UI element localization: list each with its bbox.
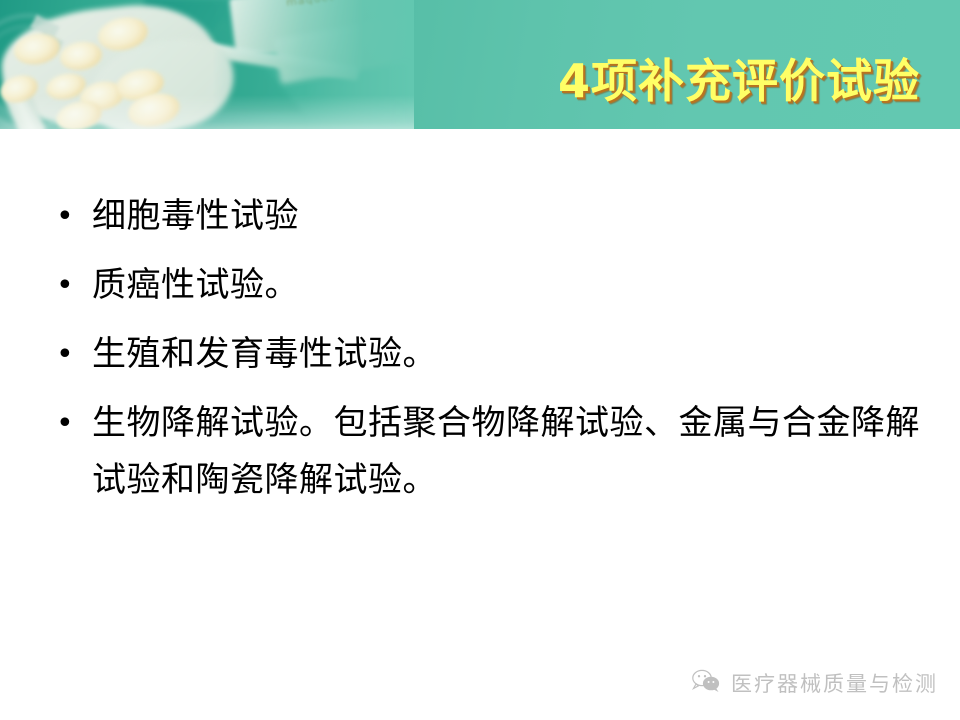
bullet-item: 生物降解试验。包括聚合物降解试验、金属与合金降解试验和陶瓷降解试验。: [48, 395, 928, 509]
bullet-list: 细胞毒性试验 质癌性试验。 生殖和发育毒性试验。 生物降解试验。包括聚合物降解试…: [48, 188, 928, 521]
bullet-item: 生殖和发育毒性试验。: [48, 326, 928, 383]
watermark: 医疗器械质量与检测: [691, 668, 938, 698]
bullet-item: 细胞毒性试验: [48, 188, 928, 245]
presentation-slide: maquet 4项补充评价试验 细胞毒性试验 质癌性试验。 生殖和发: [0, 0, 960, 720]
photo-bottom-fade-overlay: [0, 0, 414, 129]
bullet-item: 质癌性试验。: [48, 257, 928, 314]
surgical-light-photo: maquet: [0, 0, 414, 129]
watermark-text: 医疗器械质量与检测: [731, 668, 938, 698]
slide-title: 4项补充评价试验: [430, 58, 920, 104]
wechat-icon: [691, 668, 721, 698]
